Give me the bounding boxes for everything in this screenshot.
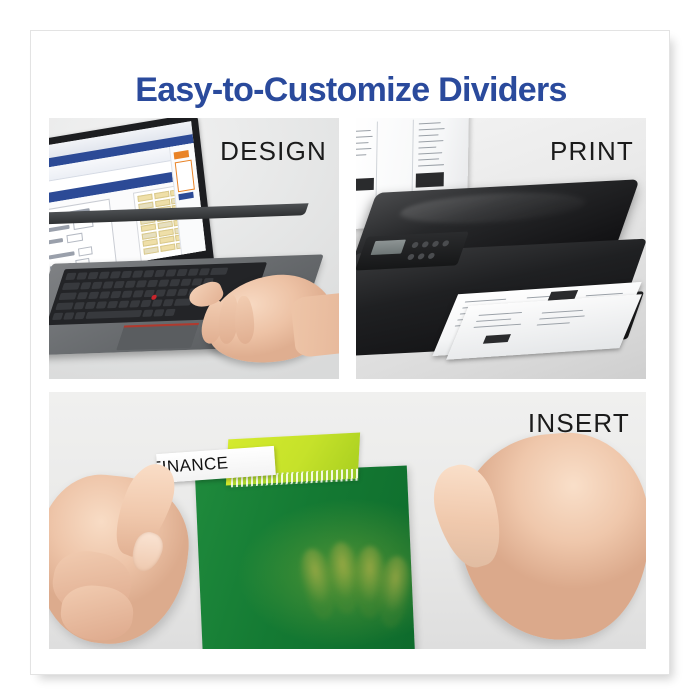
panel-print: PRINT [356,118,646,379]
screenshot-root: Easy-to-Customize Dividers [0,0,700,700]
panel-label-print: PRINT [550,136,634,167]
printer-button[interactable] [421,241,429,247]
panel-label-insert: INSERT [528,408,630,439]
printer-button[interactable] [442,240,450,246]
hand-holding-label [49,440,217,646]
printer-button[interactable] [407,254,415,260]
printer-button[interactable] [417,253,425,259]
laptop-screen [49,121,206,279]
printer-button[interactable] [411,242,419,248]
printer-lcd-screen [371,240,407,256]
side-panel-button[interactable] [178,192,193,200]
printer-control-panel[interactable] [356,231,469,270]
printer-button[interactable] [431,241,439,247]
lid-highlight [395,189,589,228]
panel-design: DESIGN [49,118,339,379]
panel-insert: FINANCE INSERT [49,392,646,649]
template-outline-icon [175,160,195,193]
template-thumb-icon [174,150,190,159]
page-title: Easy-to-Customize Dividers [31,71,671,110]
product-image-card: Easy-to-Customize Dividers [30,30,670,675]
hand-holding-divider [430,418,646,648]
panel-label-design: DESIGN [220,136,327,167]
hand-typing [185,266,339,379]
fingers-behind-divider [299,542,419,649]
printer-button[interactable] [427,253,435,259]
